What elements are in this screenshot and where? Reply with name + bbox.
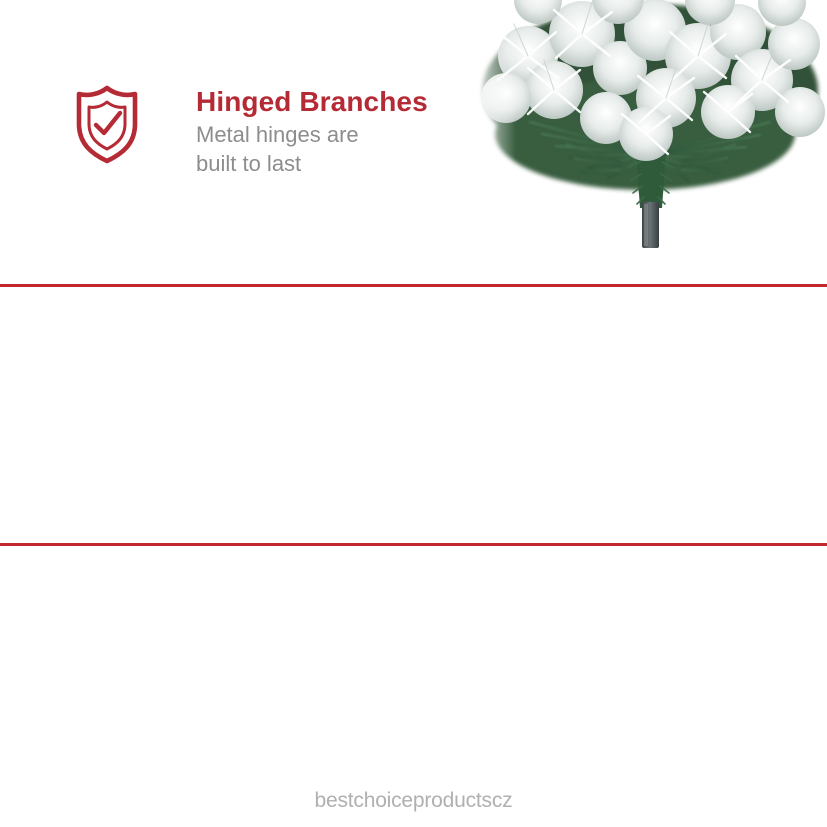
feature-description: Metal hinges are built to last <box>196 121 428 178</box>
feature-text-hinged-branches: Hinged Branches Metal hinges are built t… <box>196 86 428 179</box>
feature-heading: Hinged Branches <box>196 86 428 117</box>
photo-left-fade <box>470 0 516 252</box>
flocked-tree-section-photo <box>470 0 827 252</box>
feature-panel-pvc-tips: PVC Tips Flame-retardant and easy to flu… <box>0 287 827 543</box>
product-feature-infographic: Hinged Branches Metal hinges are built t… <box>0 0 827 827</box>
feature-panel-sturdy-base: Sturdy Base A reliable metal stand for y… <box>0 546 827 827</box>
flocked-tree-section-illustration <box>470 0 827 252</box>
feature-panel-hinged-branches: Hinged Branches Metal hinges are built t… <box>0 0 827 284</box>
shield-check-icon <box>74 84 140 164</box>
watermark-brand: bestchoiceproductscz <box>0 789 827 813</box>
